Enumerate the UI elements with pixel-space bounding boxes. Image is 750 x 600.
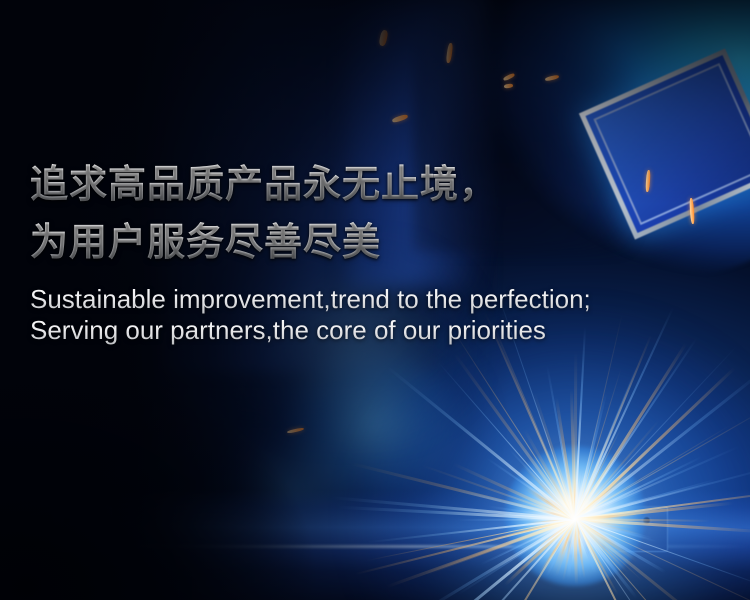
banner-copy: 追求高品质产品永无止境， 为用户服务尽善尽美 Sustainable impro… — [30, 158, 720, 346]
headline-line-2: 为用户服务尽善尽美 — [30, 216, 720, 270]
hero-banner: 追求高品质产品永无止境， 为用户服务尽善尽美 Sustainable impro… — [0, 0, 750, 600]
subheadline-line-1: Sustainable improvement,trend to the per… — [30, 284, 720, 315]
headline-line-1: 追求高品质产品永无止境， — [30, 158, 720, 212]
subheadline-line-2: Serving our partners,the core of our pri… — [30, 315, 720, 346]
subheadline-group: Sustainable improvement,trend to the per… — [30, 284, 720, 346]
